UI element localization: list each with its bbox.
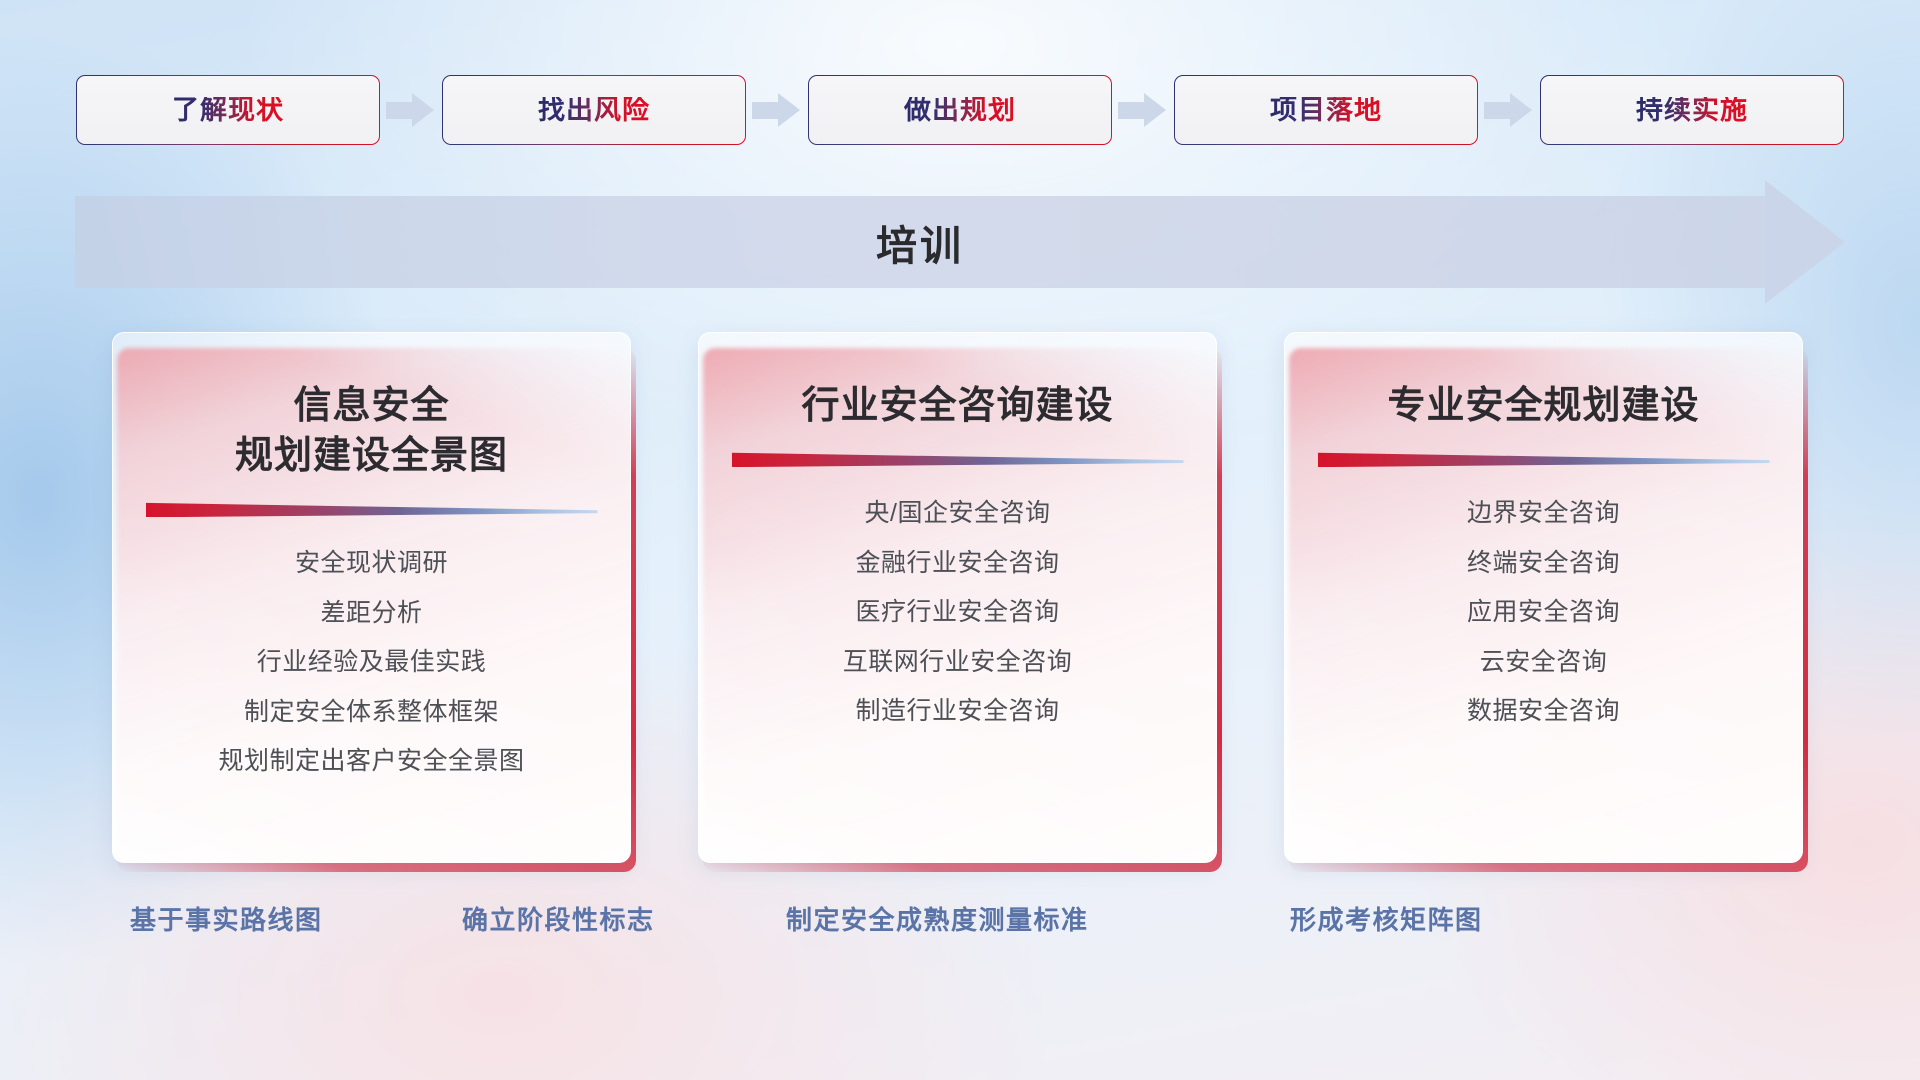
footer-label-3: 制定安全成熟度测量标准 (786, 900, 1089, 937)
block-arrow-right-icon (380, 90, 442, 130)
service-card-1[interactable]: 信息安全 规划建设全景图安全现状调研差距分析行业经验及最佳实践制定安全体系整体框… (112, 332, 636, 872)
arrow-head (1510, 93, 1532, 127)
step-label: 找出风险 (538, 97, 650, 124)
card-title: 信息安全 规划建设全景图 (113, 381, 630, 481)
step-box-2[interactable]: 找出风险 (442, 75, 746, 145)
card-item-list: 边界安全咨询终端安全咨询应用安全咨询云安全咨询数据安全咨询 (1285, 493, 1802, 732)
step-label: 持续实施 (1636, 97, 1748, 124)
list-item: 互联网行业安全咨询 (843, 642, 1073, 683)
list-item: 行业经验及最佳实践 (257, 642, 487, 683)
list-item: 终端安全咨询 (1467, 543, 1620, 584)
card-gradient-divider (146, 501, 598, 517)
list-item: 制造行业安全咨询 (855, 691, 1059, 732)
arrow-head (1144, 93, 1166, 127)
arrow-shaft (1118, 102, 1146, 119)
step-box-3[interactable]: 做出规划 (808, 75, 1112, 145)
block-arrow-right-icon (1478, 90, 1540, 130)
divider-taper (732, 451, 1184, 467)
arrow-head (778, 93, 800, 127)
list-item: 边界安全咨询 (1467, 493, 1620, 534)
step-label: 了解现状 (172, 97, 284, 124)
process-steps-row: 了解现状找出风险做出规划项目落地持续实施 (0, 70, 1920, 150)
arrow-shaft (1484, 102, 1512, 119)
banner-title: 培训 (75, 196, 1765, 288)
list-item: 云安全咨询 (1480, 642, 1608, 683)
card-item-list: 央/国企安全咨询金融行业安全咨询医疗行业安全咨询互联网行业安全咨询制造行业安全咨… (699, 493, 1216, 732)
arrow-shaft (752, 102, 780, 119)
list-item: 应用安全咨询 (1467, 592, 1620, 633)
step-box-5[interactable]: 持续实施 (1540, 75, 1844, 145)
arrow-head (412, 93, 434, 127)
step-box-1[interactable]: 了解现状 (76, 75, 380, 145)
card-title: 专业安全规划建设 (1285, 381, 1802, 431)
step-label: 项目落地 (1270, 97, 1382, 124)
card-panel: 行业安全咨询建设央/国企安全咨询金融行业安全咨询医疗行业安全咨询互联网行业安全咨… (698, 332, 1217, 863)
card-gradient-divider (1318, 451, 1770, 467)
list-item: 数据安全咨询 (1467, 691, 1620, 732)
card-panel: 信息安全 规划建设全景图安全现状调研差距分析行业经验及最佳实践制定安全体系整体框… (112, 332, 631, 863)
list-item: 央/国企安全咨询 (865, 493, 1051, 534)
divider-taper (1318, 451, 1770, 467)
banner-arrow-head-icon (1765, 180, 1845, 304)
divider-taper (146, 501, 598, 517)
footer-label-4: 形成考核矩阵图 (1290, 900, 1483, 937)
list-item: 安全现状调研 (295, 543, 448, 584)
card-gradient-divider (732, 451, 1184, 467)
service-card-2[interactable]: 行业安全咨询建设央/国企安全咨询金融行业安全咨询医疗行业安全咨询互联网行业安全咨… (698, 332, 1222, 872)
footer-label-2: 确立阶段性标志 (462, 900, 655, 937)
list-item: 差距分析 (320, 593, 422, 634)
card-title: 行业安全咨询建设 (699, 381, 1216, 431)
block-arrow-right-icon (746, 90, 808, 130)
footer-labels-row: 基于事实路线图确立阶段性标志制定安全成熟度测量标准形成考核矩阵图 (0, 900, 1920, 960)
training-banner-arrow: 培训 (75, 196, 1845, 288)
footer-label-1: 基于事实路线图 (130, 900, 323, 937)
list-item: 规划制定出客户安全全景图 (218, 741, 524, 782)
card-panel: 专业安全规划建设边界安全咨询终端安全咨询应用安全咨询云安全咨询数据安全咨询 (1284, 332, 1803, 863)
service-cards-row: 信息安全 规划建设全景图安全现状调研差距分析行业经验及最佳实践制定安全体系整体框… (0, 332, 1920, 872)
service-card-3[interactable]: 专业安全规划建设边界安全咨询终端安全咨询应用安全咨询云安全咨询数据安全咨询 (1284, 332, 1808, 872)
card-item-list: 安全现状调研差距分析行业经验及最佳实践制定安全体系整体框架规划制定出客户安全全景… (113, 543, 630, 782)
block-arrow-right-icon (1112, 90, 1174, 130)
list-item: 制定安全体系整体框架 (244, 692, 499, 733)
step-box-4[interactable]: 项目落地 (1174, 75, 1478, 145)
list-item: 医疗行业安全咨询 (855, 592, 1059, 633)
step-label: 做出规划 (904, 97, 1016, 124)
list-item: 金融行业安全咨询 (855, 543, 1059, 584)
arrow-shaft (386, 102, 414, 119)
